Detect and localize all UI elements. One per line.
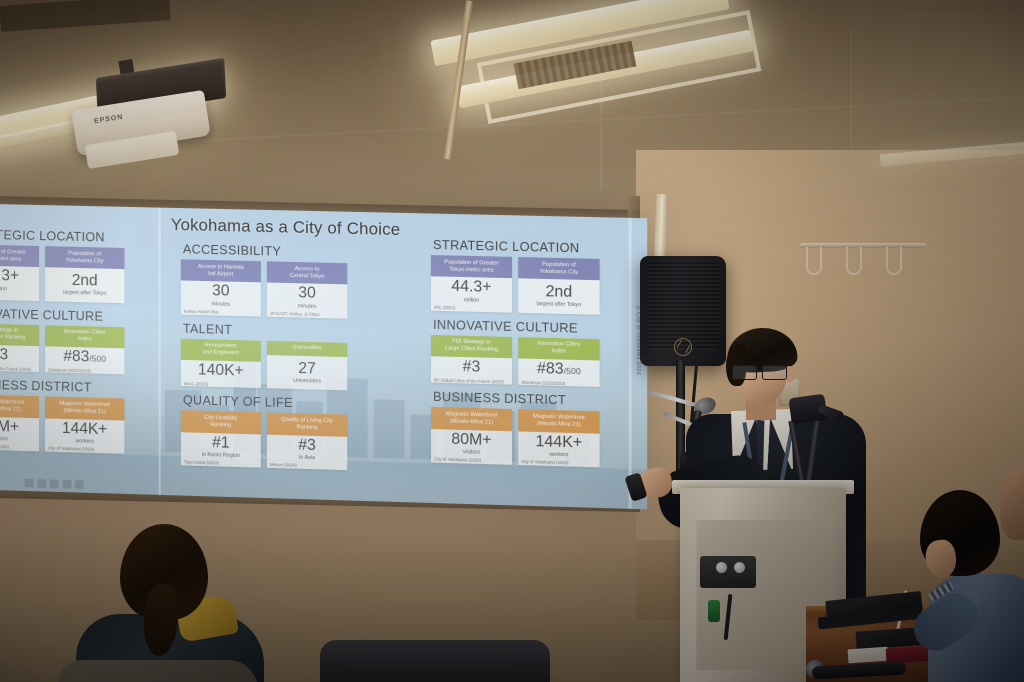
slide-card-body: 30minutes [181,281,261,311]
slide-card-unit: million [433,296,510,304]
slide-card-unit: in Asia [269,454,345,462]
audience-member-left [58,512,288,682]
slide-section: BUSINESS DISTRICTMagnetic Waterfront(Min… [0,377,125,453]
slide-section-heading: BUSINESS DISTRICT [0,378,125,396]
slide-card-body: 80M+visitors [431,429,512,459]
slide-stat-card: Researchersand Engineers140K+MIAC (2023) [181,338,261,388]
slide-card-header: Population ofYokohama City [45,246,124,269]
slide-card-value: 80M+ [0,418,37,436]
slide-card-value: 44.3+ [433,279,510,297]
slide-stat-card: Innovation CitiesIndex#83/5002thinknow (… [45,325,124,375]
slide-card-value: 2nd [520,284,597,302]
glasses-lens [762,365,787,380]
glasses-bridge [755,370,762,372]
slide-card-body: #83/500 [518,358,599,381]
slide-card-header: Access to HanedaIntl Airport [181,259,261,282]
slide-card-source: City of Yokohama (2024) [431,457,512,465]
slide-stat-card: FDI Strategy inLarge Cities Ranking#3fDi… [0,323,39,373]
slide-stat-card: FDI Strategy inLarge Cities Ranking#3fDi… [431,335,512,385]
slide-panel-divider [629,218,632,509]
slide-card-value: 2nd [47,272,122,290]
notebook [848,647,889,664]
more-options-button[interactable] [62,479,72,489]
slide-stat-card: Population of GreaterTokyo metro area44.… [0,244,39,301]
bag [58,660,258,682]
slide-stat-card: Magnetic Waterfront(Minato-Mirai 21)80M+… [0,394,39,451]
slide-card-unit: largest after Tokyo [47,290,122,298]
slide-section-heading: STRATEGIC LOCATION [433,238,601,256]
slide-card-row: FDI Strategy inLarge Cities Ranking#3fDi… [431,335,601,388]
slide-stat-card: Magnetic Waterfront(Minato-Mirai 21)80M+… [431,407,512,465]
podium-indicator-light [708,600,720,622]
slide-card-value: #1 [183,434,259,453]
slide-section-heading: INNOVATIVE CULTURE [433,317,601,335]
slide-card-source: Mercer (2024) [267,462,347,470]
slide-title: Yokohama as a City of Choice [171,216,401,240]
pen-tool-button[interactable] [37,478,47,488]
slide-card-unit: workers [47,437,122,445]
presenter-toolbar[interactable] [24,478,84,490]
podium-button[interactable] [734,562,745,573]
slide-card-value: #3 [433,358,510,376]
slide-card-value: 140K+ [183,362,259,380]
slide-card-body: 144K+workers [45,418,124,448]
slide-card-unit: workers [520,451,597,459]
slide-section-heading: BUSINESS DISTRICT [433,390,601,409]
slide-card-unit: visitors [433,448,510,456]
slide-stat-card: Magnetic Waterfront(Minato-Mirai 21)144K… [518,410,599,468]
slide-card-body: #83/500 [45,346,124,369]
slide-card-header: Access toCentral Tokyo [267,261,347,284]
slide-card-body: 2ndlargest after Tokyo [518,279,599,315]
conference-room-photo: EPSON Yokohama as a City of Choic [0,0,1024,682]
slide-card-unit: visitors [0,435,37,443]
slide-card-row: Population of GreaterTokyo metro area44.… [0,244,125,303]
slide-card-row: FDI Strategy inLarge Cities Ranking#3fDi… [0,323,125,375]
slide-card-body: 44.3+million [0,266,39,296]
slide-card-source: MIAC (2023) [181,381,261,389]
slide-card-source: City of Yokohama (2024) [45,446,124,454]
slide-section-heading: QUALITY OF LIFE [183,393,348,412]
slide-card-body: 140K+ [181,360,261,383]
slide-stat-card: Population of GreaterTokyo metro area44.… [431,255,512,312]
slide-section: TALENTResearchersand Engineers140K+MIAC … [181,321,348,390]
slide-card-header: Population ofYokohama City [518,257,599,281]
slide-card-body: 80M+visitors [0,416,39,446]
slide-card-header: FDI Strategy inLarge Cities Ranking [0,323,39,346]
slide-card-body: #3 [0,344,39,367]
slide-card-value: 30 [183,283,259,301]
slide-section-heading: STRATEGIC LOCATION [0,227,125,245]
glasses-lens [732,365,757,380]
slide-card-source: 2thinknow (2022/2023) [45,367,124,375]
slide-section: ACCESSIBILITYAccess to HanedaIntl Airpor… [181,242,348,318]
slide-card-source: fDi Global Cities of the Future (2025) [431,377,512,385]
slide-card-source: MIC (2021) [431,305,512,313]
slide-card-source: Keikyu Airport Bus [181,309,261,317]
slide-stat-card: Access toCentral Tokyo30minutesJR EAST, … [267,261,347,318]
slide-card-body: 27Universities [267,355,347,391]
slide-card-source: City of Yokohama (2024) [0,443,39,451]
slide-section: STRATEGIC LOCATIONPopulation of GreaterT… [0,227,125,303]
slide-panel-divider [159,208,161,495]
slide-card-row: Access to HanedaIntl Airport30minutesKei… [181,259,348,318]
slide-section-heading: ACCESSIBILITY [183,242,348,260]
slide-card-value: 44.3+ [0,268,37,286]
slide-section: STRATEGIC LOCATIONPopulation of GreaterT… [431,238,601,315]
podium-button[interactable] [716,562,727,573]
slide-stat-card: Access to HanedaIntl Airport30minutesKei… [181,259,261,316]
slide-card-header: Researchersand Engineers [181,338,261,361]
slide-section: INNOVATIVE CULTUREFDI Strategy inLarge C… [0,306,125,375]
prev-slide-button[interactable] [24,478,34,488]
slide-card-header: Quality of Living CityRanking [267,413,347,437]
slide-card-row: Magnetic Waterfront(Minato-Mirai 21)80M+… [431,407,601,467]
audience-member-right [906,482,1024,682]
slide-card-body: #3in Asia [267,434,347,464]
slide-card-row: Magnetic Waterfront(Minato-Mirai 21)80M+… [0,394,125,453]
slide-card-row: Researchersand Engineers140K+MIAC (2023)… [181,338,348,390]
slide-stat-card: Magnetic Waterfront(Minato-Mirai 21)144K… [45,397,124,454]
slide-section-heading: INNOVATIVE CULTURE [0,306,125,324]
slide-card-row: Population of GreaterTokyo metro area44.… [431,255,601,314]
presentation-slide: Yokohama as a City of Choice STRATEGIC L… [0,204,647,509]
slide-card-header: Innovation CitiesIndex [45,325,124,348]
slide-card-value-suffix: /500 [564,366,581,377]
slide-card-source: MIC (2021) [0,293,39,301]
slide-section: INNOVATIVE CULTUREFDI Strategy inLarge C… [431,317,601,387]
glasses-icon [732,365,790,378]
slide-card-body: 44.3+million [431,277,512,307]
slide-card-value: 80M+ [433,431,510,450]
slide-card-source: 2thinknow (2022/2023) [518,380,599,388]
next-slide-button[interactable] [74,479,84,489]
slide-card-header: Population of GreaterTokyo metro area [431,255,512,278]
slide-stat-card: Population ofYokohama City2ndlargest aft… [45,246,124,303]
slide-card-source: City of Yokohama (2024) [518,459,599,467]
slide-card-value: 144K+ [47,420,122,438]
slide-card-row: City LivabilityRanking#1in Kanto RegionT… [181,410,348,470]
slide-card-unit: largest after Tokyo [520,301,597,309]
wall-hook-icon [886,247,902,275]
slide-stat-card: Universities27Universities [267,341,347,391]
slide-card-unit: million [0,285,37,293]
slide-card-unit: minutes [183,300,259,308]
slide-stat-card: Innovation CitiesIndex#83/5002thinknow (… [518,337,599,388]
slide-card-source: fDi Global Cities of the Future (2025) [0,365,39,373]
slide-card-header: FDI Strategy inLarge Cities Ranking [431,335,512,359]
slide-card-unit: Universities [269,377,345,385]
slide-card-header: Innovation CitiesIndex [518,337,599,361]
slide-column-middle: ACCESSIBILITYAccess to HanedaIntl Airpor… [181,242,348,477]
slide-card-value: 27 [269,360,345,378]
slide-card-value: #83/500 [47,348,122,366]
slide-card-unit: in Kanto Region [183,451,259,459]
projection-screen: Yokohama as a City of Choice STRATEGIC L… [0,204,647,509]
podium-control-panel[interactable] [700,556,756,588]
slide-column-bleed-left: STRATEGIC LOCATIONPopulation of GreaterT… [0,227,125,461]
slide-card-header: Population of GreaterTokyo metro area [0,244,39,267]
slide-card-source: Toyo Keizai (2024) [181,460,261,468]
slide-card-unit: minutes [269,302,345,310]
slide-card-header: City LivabilityRanking [181,410,261,434]
slide-card-body: 2ndlargest after Tokyo [45,268,124,303]
wall-hook-icon [806,247,822,275]
slide-card-value-suffix: /500 [89,353,106,363]
slide-card-header: Magnetic Waterfront(Minato-Mirai 21) [431,407,512,431]
slide-card-header: Magnetic Waterfront(Minato-Mirai 21) [518,410,599,434]
slide-card-value: #83/500 [520,361,597,380]
slide-card-body: 144K+workers [518,431,599,461]
wall-hook-icon [846,247,862,275]
slide-column-right: STRATEGIC LOCATIONPopulation of GreaterT… [431,238,601,475]
slide-card-body: #1in Kanto Region [181,432,261,462]
zoom-tool-button[interactable] [49,479,59,489]
slide-section-heading: TALENT [183,321,348,339]
slide-card-header: Magnetic Waterfront(Minato-Mirai 21) [0,394,39,417]
slide-card-value: #3 [269,436,345,455]
slide-card-value: 30 [269,285,345,303]
slide-stat-card: City LivabilityRanking#1in Kanto RegionT… [181,410,261,467]
slide-card-body: #3 [431,356,512,379]
slide-card-value: 144K+ [520,433,597,452]
slide-card-body: 30minutes [267,283,347,313]
slide-stat-card: Quality of Living CityRanking#3in AsiaMe… [267,413,347,470]
slide-card-source: JR EAST, Keikyu, & Tokyu [267,311,347,319]
slide-section: BUSINESS DISTRICTMagnetic Waterfront(Min… [431,390,601,467]
slide-card-value: #3 [0,346,37,364]
slide-stat-card: Population ofYokohama City2ndlargest aft… [518,257,599,314]
chair-back [320,640,550,682]
slide-section: QUALITY OF LIFECity LivabilityRanking#1i… [181,393,348,470]
slide-card-header: Magnetic Waterfront(Minato-Mirai 21) [45,397,124,421]
